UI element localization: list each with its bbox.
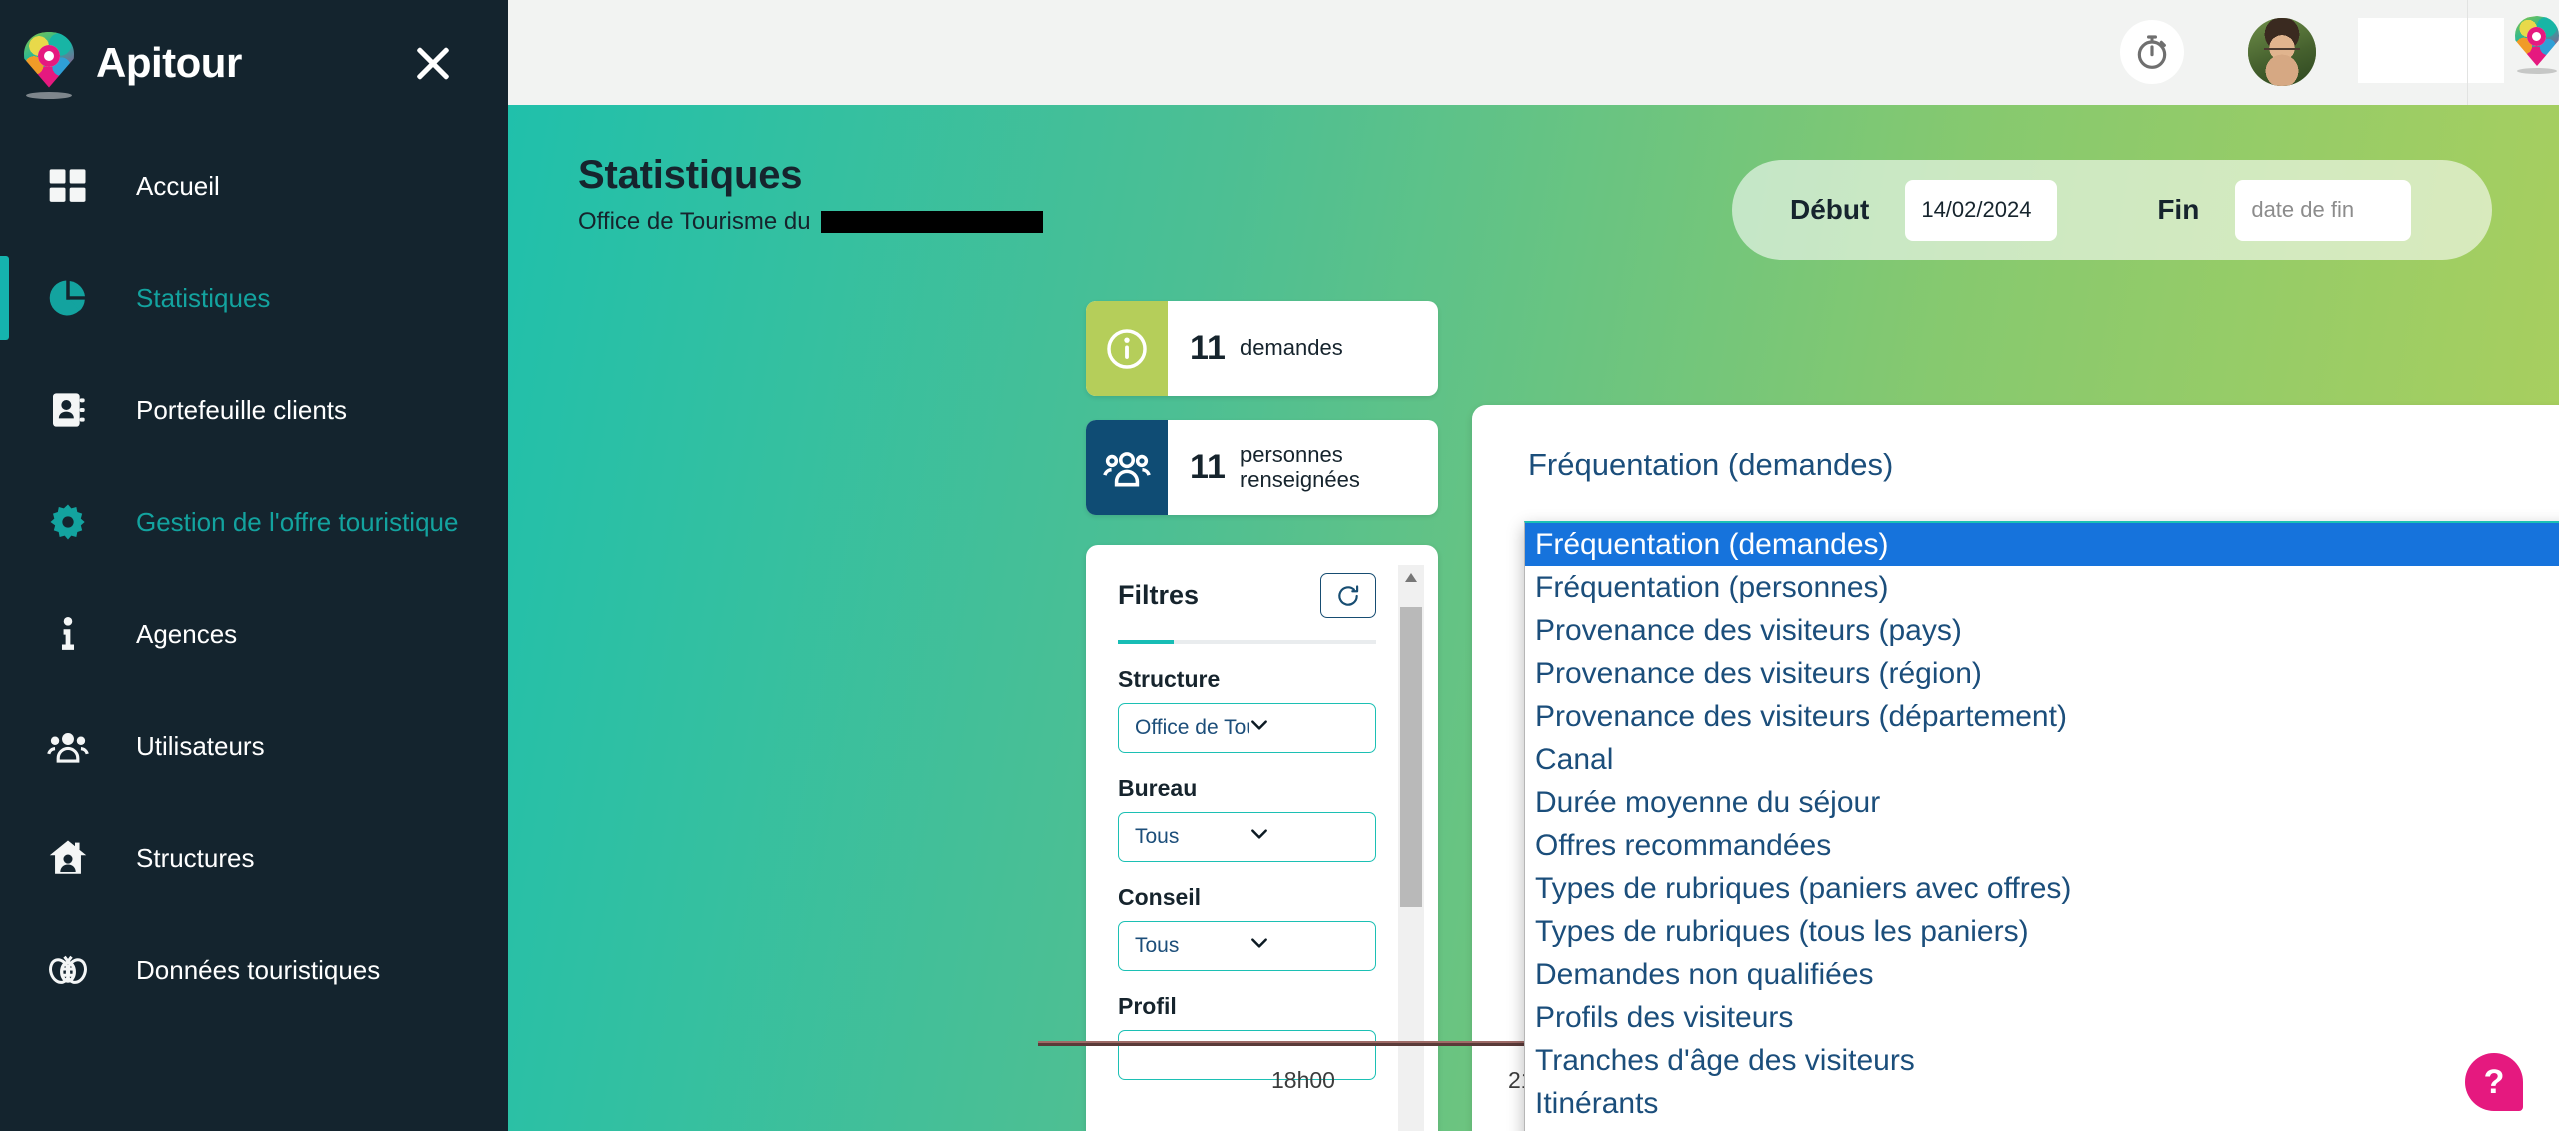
chevron-down-icon xyxy=(1249,933,1363,959)
stat-card-demandes: 11 demandes xyxy=(1086,301,1438,396)
stat-label: personnes renseignées xyxy=(1240,443,1360,492)
report-select-value: Fréquentation (demandes) xyxy=(1528,447,1893,483)
close-icon[interactable] xyxy=(412,42,454,84)
sidebar: Apitour Accueil Statistiques xyxy=(0,0,508,1131)
filters-scrollbar[interactable] xyxy=(1398,565,1424,1131)
sidebar-item-portefeuille-clients[interactable]: Portefeuille clients xyxy=(0,354,508,466)
filter-label-profil: Profil xyxy=(1118,993,1408,1020)
bee-icon xyxy=(40,949,96,991)
filter-value-bureau: Tous xyxy=(1135,825,1249,849)
dropdown-option[interactable]: Profils des visiteurs xyxy=(1525,996,2559,1039)
info-circle-icon xyxy=(1086,301,1168,396)
report-dropdown-list[interactable]: Fréquentation (demandes) Fréquentation (… xyxy=(1524,521,2559,1131)
filter-label-bureau: Bureau xyxy=(1118,775,1408,802)
stat-label-line2: renseignées xyxy=(1240,468,1360,493)
header-blank-box xyxy=(2358,18,2504,83)
dropdown-option[interactable]: Provenance des visiteurs (département) xyxy=(1525,695,2559,738)
filter-value-conseil: Tous xyxy=(1135,934,1249,958)
filters-title: Filtres xyxy=(1118,580,1199,611)
stopwatch-icon[interactable] xyxy=(2120,20,2184,84)
help-icon[interactable]: ? xyxy=(2465,1053,2523,1111)
address-book-icon xyxy=(40,390,96,430)
filter-value-structure: Office de Tourisme du xyxy=(1135,716,1249,740)
sidebar-item-statistiques[interactable]: Statistiques xyxy=(0,242,508,354)
page-subtitle: Office de Tourisme du xyxy=(578,208,1043,236)
stat-card-personnes: 11 personnes renseignées xyxy=(1086,420,1438,515)
sidebar-item-label: Agences xyxy=(136,619,237,650)
pie-chart-icon xyxy=(40,277,96,319)
sidebar-item-label: Accueil xyxy=(136,171,220,202)
redacted-block xyxy=(821,211,1043,233)
dropdown-option[interactable]: Provenance des visiteurs (pays) xyxy=(1525,609,2559,652)
users-icon xyxy=(40,725,96,767)
avatar[interactable] xyxy=(2248,18,2316,86)
sidebar-item-utilisateurs[interactable]: Utilisateurs xyxy=(0,690,508,802)
report-select[interactable]: Fréquentation (demandes) xyxy=(1528,433,2559,497)
x-axis-tick: 18h00 xyxy=(1271,1067,1335,1094)
dropdown-option[interactable]: Offres recommandées xyxy=(1525,824,2559,867)
filters-divider xyxy=(1118,640,1376,644)
date-end-input[interactable] xyxy=(2235,180,2411,241)
header-divider xyxy=(2467,0,2468,105)
dropdown-option[interactable]: Fréquentation (personnes) xyxy=(1525,566,2559,609)
sidebar-item-label: Structures xyxy=(136,843,255,874)
dropdown-option[interactable]: Provenance des visiteurs (région) xyxy=(1525,652,2559,695)
chevron-down-icon xyxy=(1249,715,1363,741)
stat-label: demandes xyxy=(1240,336,1343,361)
brand-name: Apitour xyxy=(96,39,242,87)
filter-select-bureau[interactable]: Tous xyxy=(1118,812,1376,862)
sidebar-item-structures[interactable]: Structures xyxy=(0,802,508,914)
map-pin-logo-icon xyxy=(24,32,78,94)
scroll-up-icon[interactable] xyxy=(1398,565,1424,591)
date-start-input[interactable] xyxy=(1905,180,2057,241)
sidebar-item-label: Statistiques xyxy=(136,283,270,314)
page-subtitle-text: Office de Tourisme du xyxy=(578,208,811,236)
filter-select-conseil[interactable]: Tous xyxy=(1118,921,1376,971)
top-bar xyxy=(508,0,2559,105)
users-group-icon xyxy=(1086,420,1168,515)
scrollbar-thumb[interactable] xyxy=(1400,607,1422,907)
filter-label-structure: Structure xyxy=(1118,666,1408,693)
info-icon xyxy=(40,615,96,653)
main-stage: Statistiques Office de Tourisme du Début… xyxy=(508,105,2559,1131)
gear-icon xyxy=(40,502,96,542)
dropdown-option[interactable]: Types de rubriques (paniers avec offres) xyxy=(1525,867,2559,910)
dropdown-option[interactable]: Canal xyxy=(1525,738,2559,781)
sidebar-nav: Accueil Statistiques xyxy=(0,130,508,1026)
sidebar-item-donnees-touristiques[interactable]: Données touristiques xyxy=(0,914,508,1026)
stat-value: 11 xyxy=(1190,448,1226,487)
dropdown-option[interactable]: Itinérants xyxy=(1525,1082,2559,1125)
dropdown-option[interactable]: Durée moyenne du séjour xyxy=(1525,781,2559,824)
date-start-label: Début xyxy=(1790,194,1869,226)
date-end-label: Fin xyxy=(2157,194,2199,226)
grid-icon xyxy=(40,166,96,206)
dropdown-option[interactable]: Groupes xyxy=(1525,1125,2559,1131)
sidebar-item-label: Portefeuille clients xyxy=(136,395,347,426)
sidebar-item-label: Utilisateurs xyxy=(136,731,265,762)
filter-label-conseil: Conseil xyxy=(1118,884,1408,911)
stat-label-line1: personnes xyxy=(1240,443,1360,468)
map-pin-logo-icon[interactable] xyxy=(2515,16,2559,74)
date-range-panel: Début Fin xyxy=(1732,160,2492,260)
dropdown-option[interactable]: Types de rubriques (tous les paniers) xyxy=(1525,910,2559,953)
sidebar-item-label: Gestion de l'offre touristique xyxy=(136,507,458,538)
dropdown-option[interactable]: Fréquentation (demandes) xyxy=(1525,523,2559,566)
page-title: Statistiques xyxy=(578,153,802,198)
sidebar-item-agences[interactable]: Agences xyxy=(0,578,508,690)
sidebar-item-gestion-offre-touristique[interactable]: Gestion de l'offre touristique xyxy=(0,466,508,578)
dropdown-option[interactable]: Demandes non qualifiées xyxy=(1525,953,2559,996)
house-user-icon xyxy=(40,837,96,879)
filter-select-profil[interactable] xyxy=(1118,1030,1376,1080)
reload-icon[interactable] xyxy=(1320,573,1376,618)
dropdown-option[interactable]: Tranches d'âge des visiteurs xyxy=(1525,1039,2559,1082)
filter-select-structure[interactable]: Office de Tourisme du xyxy=(1118,703,1376,753)
stat-value: 11 xyxy=(1190,329,1226,368)
sidebar-item-accueil[interactable]: Accueil xyxy=(0,130,508,242)
sidebar-item-label: Données touristiques xyxy=(136,955,380,986)
chevron-down-icon xyxy=(1249,824,1363,850)
